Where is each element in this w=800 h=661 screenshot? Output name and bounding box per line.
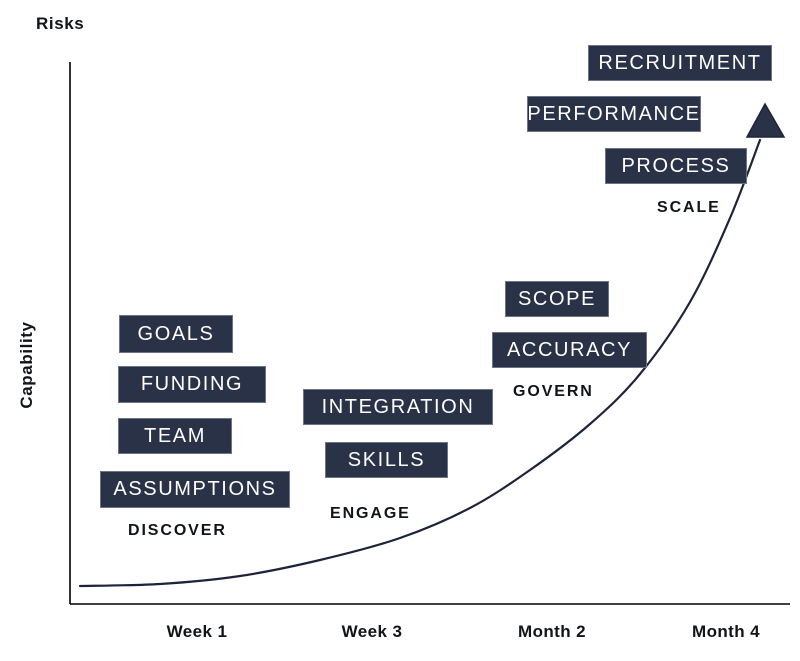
- milestone-chip-performance[interactable]: PERFORMANCE: [527, 96, 701, 132]
- milestone-chip-team[interactable]: TEAM: [118, 418, 232, 454]
- y-axis-label-capability: Capability: [17, 310, 37, 420]
- milestone-chip-assumptions[interactable]: ASSUMPTIONS: [100, 471, 290, 508]
- milestone-chip-process[interactable]: PROCESS: [605, 148, 747, 184]
- phase-label-scale: SCALE: [657, 199, 721, 217]
- x-tick-label-0: Week 1: [137, 622, 257, 642]
- phase-label-discover: DISCOVER: [128, 522, 227, 540]
- milestone-chip-accuracy[interactable]: ACCURACY: [492, 332, 647, 368]
- milestone-chip-funding[interactable]: FUNDING: [118, 366, 266, 403]
- milestone-chip-integration[interactable]: INTEGRATION: [303, 389, 493, 425]
- chart-canvas: Risks Capability GOALSFUNDINGTEAMASSUMPT…: [0, 0, 800, 661]
- curve-arrowhead-icon: [747, 104, 784, 137]
- milestone-chip-scope[interactable]: SCOPE: [505, 281, 609, 317]
- chart-title-risks: Risks: [36, 14, 84, 34]
- x-tick-label-3: Month 4: [666, 622, 786, 642]
- x-tick-label-1: Week 3: [312, 622, 432, 642]
- phase-label-engage: ENGAGE: [330, 505, 411, 523]
- phase-label-govern: GOVERN: [513, 383, 594, 401]
- x-tick-label-2: Month 2: [492, 622, 612, 642]
- milestone-chip-skills[interactable]: SKILLS: [325, 442, 448, 478]
- milestone-chip-goals[interactable]: GOALS: [119, 315, 233, 353]
- milestone-chip-recruitment[interactable]: RECRUITMENT: [588, 45, 772, 81]
